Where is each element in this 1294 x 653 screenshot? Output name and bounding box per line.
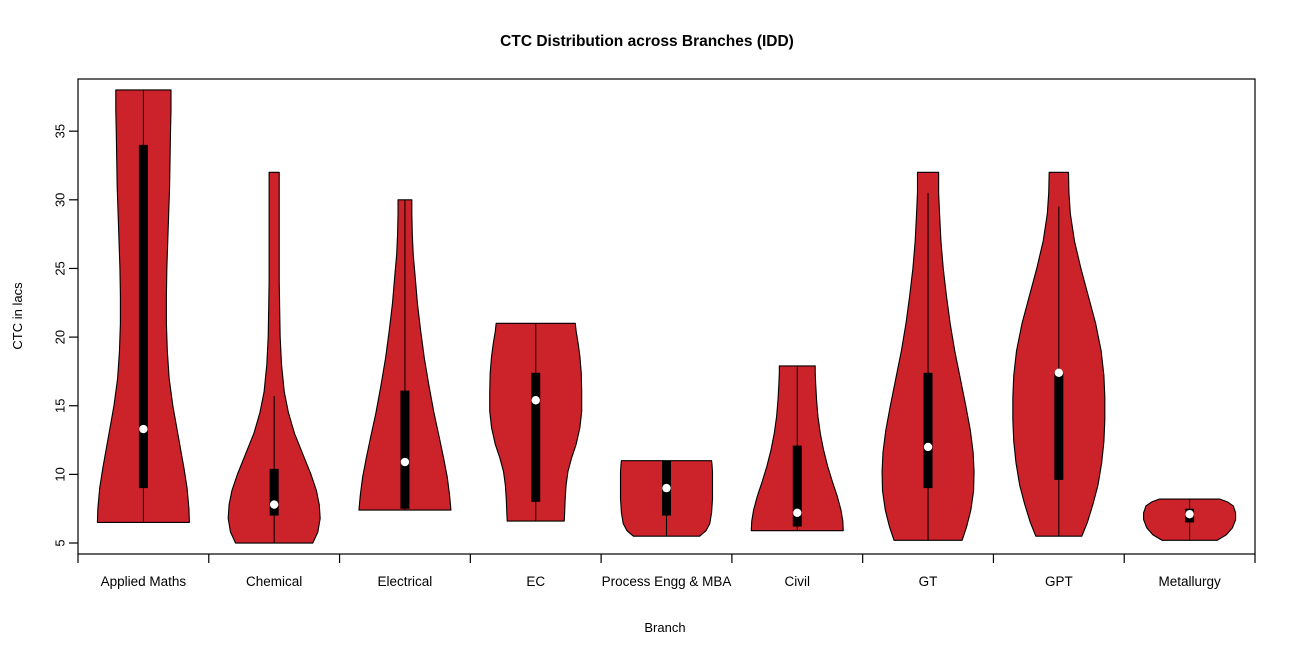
median-marker [270,500,278,508]
y-tick-label: 15 [53,398,68,412]
x-tick-label: Process Engg & MBA [602,574,732,589]
violin-process-engg-mba [621,461,713,537]
x-tick-label: Metallurgy [1158,574,1221,589]
median-marker [139,425,147,433]
x-tick-label: GT [919,574,938,589]
y-tick-label: 5 [53,539,68,546]
violin-plot-figure: CTC Distribution across Branches (IDD) 5… [0,0,1294,653]
x-axis-title: Branch [644,620,685,635]
iqr-box [139,145,148,488]
y-axis-title: CTC in lacs [10,282,25,350]
iqr-box [924,373,933,488]
median-marker [793,509,801,517]
chart-background [0,0,1294,653]
x-tick-label: Civil [785,574,811,589]
chart-canvas: CTC Distribution across Branches (IDD) 5… [0,0,1294,653]
x-tick-label: Applied Maths [101,574,187,589]
y-tick-label: 35 [53,124,68,138]
median-marker [401,458,409,466]
y-tick-label: 25 [53,261,68,275]
median-marker [532,396,540,404]
violin-metallurgy [1144,499,1236,540]
iqr-box [531,373,540,502]
x-tick-label: Chemical [246,574,302,589]
median-marker [924,443,932,451]
x-tick-label: GPT [1045,574,1073,589]
median-marker [662,484,670,492]
median-marker [1185,510,1193,518]
median-marker [1055,369,1063,377]
x-tick-label: Electrical [378,574,433,589]
page-title: CTC Distribution across Branches (IDD) [500,33,794,50]
x-tick-label: EC [526,574,545,589]
y-tick-label: 10 [53,467,68,481]
iqr-box [400,391,409,509]
y-tick-label: 30 [53,193,68,207]
iqr-box [1054,373,1063,480]
y-tick-label: 20 [53,330,68,344]
